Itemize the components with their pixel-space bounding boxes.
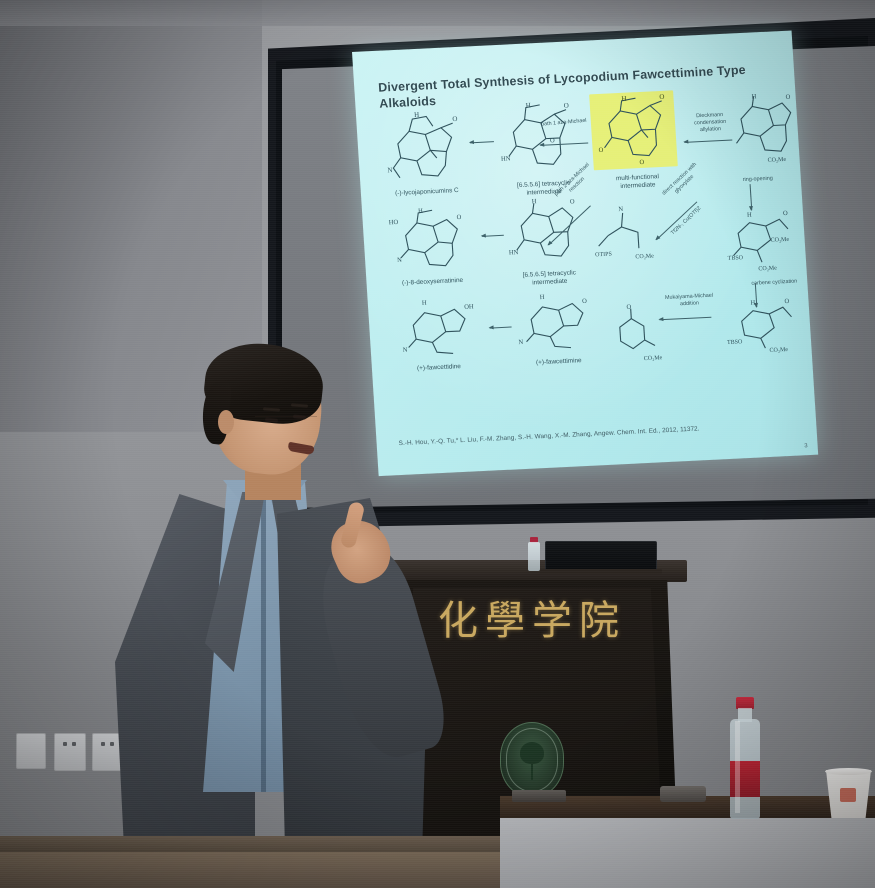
svg-text:O: O <box>659 93 665 101</box>
structure-deoxyserratinine: HO H O N <box>384 202 480 276</box>
wall-outlet-1[interactable] <box>54 733 86 771</box>
label-ring-opening: ring-opening <box>743 176 773 184</box>
front-table-panel <box>500 818 875 888</box>
structure-enone-fragment: O CO₂Me <box>605 305 669 366</box>
ceiling-band <box>0 0 875 26</box>
svg-text:N: N <box>618 206 623 213</box>
structure-otips-fragment: N CO₂Me OTIPS <box>592 199 672 267</box>
svg-text:O: O <box>784 298 789 305</box>
svg-text:HO: HO <box>389 219 399 226</box>
svg-text:H: H <box>418 208 423 215</box>
ear <box>218 410 234 434</box>
svg-text:O: O <box>639 159 644 166</box>
structure-right-bottom: H O TBSO CO₂Me <box>724 294 808 358</box>
speaker <box>95 352 425 888</box>
svg-text:O: O <box>452 115 458 123</box>
floor <box>0 852 500 888</box>
svg-text:H: H <box>422 300 427 307</box>
label-deoxyserratinine: (-)-8-deoxyserratinine <box>370 275 494 289</box>
label-catalyst: Tf2N-, Cu(OTf)2 <box>662 198 710 244</box>
slide-page-number: 3 <box>804 443 808 449</box>
structure-tetracyclic-6565: H O HN <box>503 193 587 269</box>
svg-text:O: O <box>570 198 575 205</box>
svg-text:O: O <box>785 94 790 101</box>
svg-text:CO₂Me: CO₂Me <box>644 355 663 362</box>
svg-text:N: N <box>518 339 523 346</box>
arrow-dieckmann <box>684 140 732 143</box>
svg-text:O: O <box>783 210 788 217</box>
svg-text:O: O <box>598 147 603 154</box>
svg-text:N: N <box>397 257 402 264</box>
structure-fawcettimine: H O N <box>513 288 599 356</box>
laptop-base <box>540 569 662 574</box>
svg-text:H: H <box>621 95 627 103</box>
svg-text:O: O <box>564 101 570 109</box>
svg-text:HN: HN <box>509 249 519 256</box>
table-object-left <box>512 790 566 802</box>
lecture-photo-scene: Divergent Total Synthesis of Lycopodium … <box>0 0 875 888</box>
svg-text:O: O <box>582 298 587 305</box>
wall-plate-blank <box>16 733 46 769</box>
svg-text:CO₂Me: CO₂Me <box>758 265 777 272</box>
svg-text:H: H <box>414 111 420 119</box>
brow-line <box>255 416 317 417</box>
svg-text:O: O <box>626 304 631 311</box>
podium-bottle[interactable] <box>527 537 541 571</box>
svg-text:H: H <box>540 294 545 301</box>
label-tetracyclic-6565: [6.5.6.5] tetracyclic intermediate <box>516 269 583 288</box>
water-bottle[interactable] <box>729 697 761 819</box>
structure-right-top: H O CO₂Me <box>727 90 801 165</box>
table-object-right <box>660 786 706 802</box>
svg-text:H: H <box>747 212 752 219</box>
structure-tetracyclic-6556: H O HN O <box>495 99 582 183</box>
svg-text:O: O <box>456 214 461 221</box>
svg-text:H: H <box>525 101 531 109</box>
svg-text:TBSO: TBSO <box>728 255 744 262</box>
structure-lycojaponicumins: H O N <box>378 106 475 188</box>
arrow-mukaiyama <box>659 317 711 321</box>
svg-text:OH: OH <box>464 303 474 310</box>
svg-text:H: H <box>751 93 756 100</box>
label-carbene-cyclization: carbene cyclization <box>749 278 799 287</box>
shirt-placket <box>261 492 266 792</box>
svg-text:N: N <box>387 166 393 174</box>
svg-text:OTIPS: OTIPS <box>595 252 612 259</box>
label-fawcettimine: (+)-fawcettimine <box>504 356 614 369</box>
structure-right-middle: H O TBSO CO₂Me CO₂Me <box>725 206 805 274</box>
svg-text:TBSO: TBSO <box>727 339 743 346</box>
svg-text:CO₂Me: CO₂Me <box>770 237 789 244</box>
label-mukaiyama: Mukaiyama-Michael addition <box>658 292 721 309</box>
arrow-retro-2 <box>482 235 504 237</box>
university-emblem-icon <box>500 722 564 798</box>
svg-text:H: H <box>532 198 537 205</box>
arrow-retro-3 <box>490 327 512 329</box>
svg-text:CO₂Me: CO₂Me <box>767 157 786 164</box>
svg-text:H: H <box>750 300 755 307</box>
arrow-ring-opening <box>750 184 753 210</box>
structure-multifunctional: H O O O <box>593 92 678 170</box>
arrow-retro-1 <box>470 141 494 143</box>
svg-text:CO₂Me: CO₂Me <box>769 347 788 354</box>
paper-cup[interactable] <box>826 770 871 822</box>
svg-text:HN: HN <box>501 155 511 162</box>
svg-text:CO₂Me: CO₂Me <box>635 253 654 260</box>
